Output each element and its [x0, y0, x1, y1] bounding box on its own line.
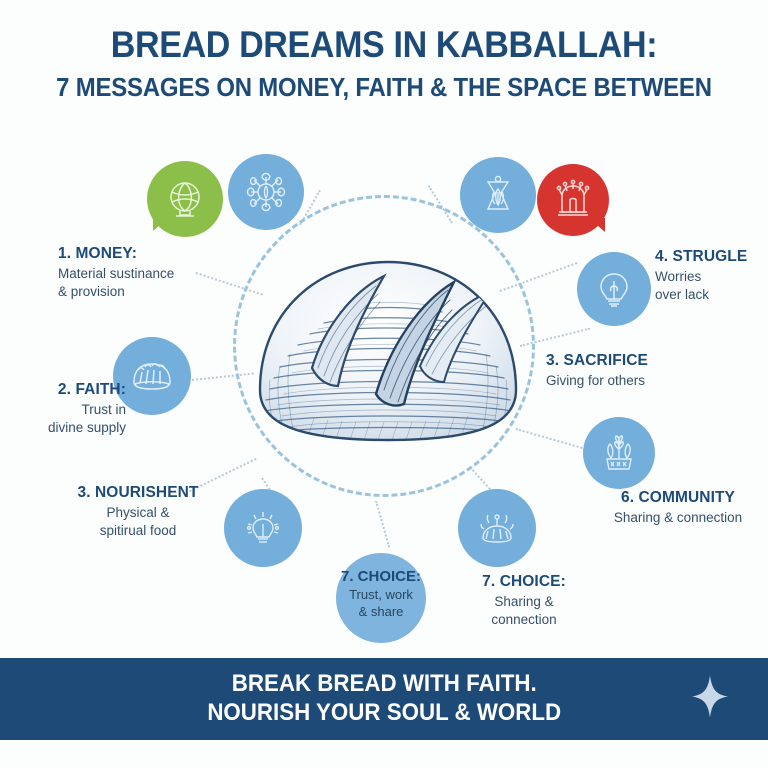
node-money-bubble[interactable]	[147, 161, 223, 237]
bubble-tail-money	[153, 217, 169, 231]
lightbulb-rays-icon	[240, 505, 286, 551]
footer-text: BREAK BREAD WITH FAITH. NOURISH YOUR SOU…	[207, 670, 561, 728]
label-sacrifice: 3. SACRIFICE Giving for others	[546, 351, 746, 390]
bread-loaf-icon	[128, 352, 176, 400]
node-community[interactable]	[583, 417, 655, 489]
label-choice-b-body: Sharing & connection	[449, 593, 599, 628]
globe-bread-icon	[162, 176, 208, 222]
label-choice-a: 7. CHOICE: Trust, work & share	[331, 568, 431, 621]
crowned-bread-icon	[551, 178, 595, 222]
node-sack[interactable]	[460, 157, 536, 233]
label-money-heading: 1. MONEY:	[58, 244, 248, 263]
label-nourishent: 3. NOURISHENT Physical & spitirual food	[38, 483, 238, 539]
label-choice-b: 7. CHOICE: Sharing & connection	[449, 572, 599, 628]
label-nourishent-body: Physical & spitirual food	[38, 504, 238, 539]
header: BREAD DREAMS IN KABBALLAH: 7 MESSAGES ON…	[0, 26, 768, 101]
infographic-canvas: BREAD DREAMS IN KABBALLAH: 7 MESSAGES ON…	[0, 0, 768, 768]
label-faith-body: Trust in divine supply	[4, 401, 126, 436]
sparkle-star-icon	[690, 674, 730, 725]
label-community-heading: 6. COMMUNITY	[594, 488, 762, 507]
node-choice-b[interactable]	[458, 489, 536, 567]
footer-banner: BREAK BREAD WITH FAITH. NOURISH YOUR SOU…	[0, 658, 768, 740]
footer-line-1: BREAK BREAD WITH FAITH.	[207, 670, 561, 699]
label-choice-a-heading: 7. CHOICE:	[331, 568, 431, 587]
connector-choice-a	[375, 501, 390, 548]
page-subtitle: 7 MESSAGES ON MONEY, FAITH & THE SPACE B…	[31, 74, 738, 101]
footer-line-2: NOURISH YOUR SOUL & WORLD	[207, 699, 561, 728]
label-sacrifice-heading: 3. SACRIFICE	[546, 351, 746, 370]
node-network[interactable]	[228, 154, 304, 230]
label-strugle-heading: 4. STRUGLE	[655, 247, 765, 266]
grain-network-icon	[243, 169, 289, 215]
label-choice-b-heading: 7. CHOICE:	[449, 572, 599, 591]
bread-shine-icon	[474, 505, 520, 551]
wheat-basket-icon	[597, 431, 641, 475]
label-faith-heading: 2. FAITH:	[4, 380, 126, 399]
node-crown-bubble[interactable]	[537, 164, 609, 236]
label-strugle: 4. STRUGLE Worries over lack	[655, 247, 765, 303]
label-community: 6. COMMUNITY Sharing & connection	[594, 488, 762, 527]
label-faith: 2. FAITH: Trust in divine supply	[4, 380, 126, 436]
label-money: 1. MONEY: Material sustinance & provisio…	[58, 244, 248, 300]
label-sacrifice-body: Giving for others	[546, 372, 746, 390]
label-nourishent-heading: 3. NOURISHENT	[38, 483, 238, 502]
center-bread-illustration	[248, 240, 528, 460]
grain-sack-icon	[475, 172, 521, 218]
page-title: BREAD DREAMS IN KABBALLAH:	[31, 26, 738, 65]
node-strugle[interactable]	[577, 252, 651, 326]
label-community-body: Sharing & connection	[594, 509, 762, 527]
label-choice-a-body: Trust, work & share	[331, 587, 431, 621]
lightbulb-icon	[593, 268, 635, 310]
label-strugle-body: Worries over lack	[655, 268, 765, 303]
label-money-body: Material sustinance & provision	[58, 265, 248, 300]
bubble-tail-crown	[589, 218, 605, 232]
